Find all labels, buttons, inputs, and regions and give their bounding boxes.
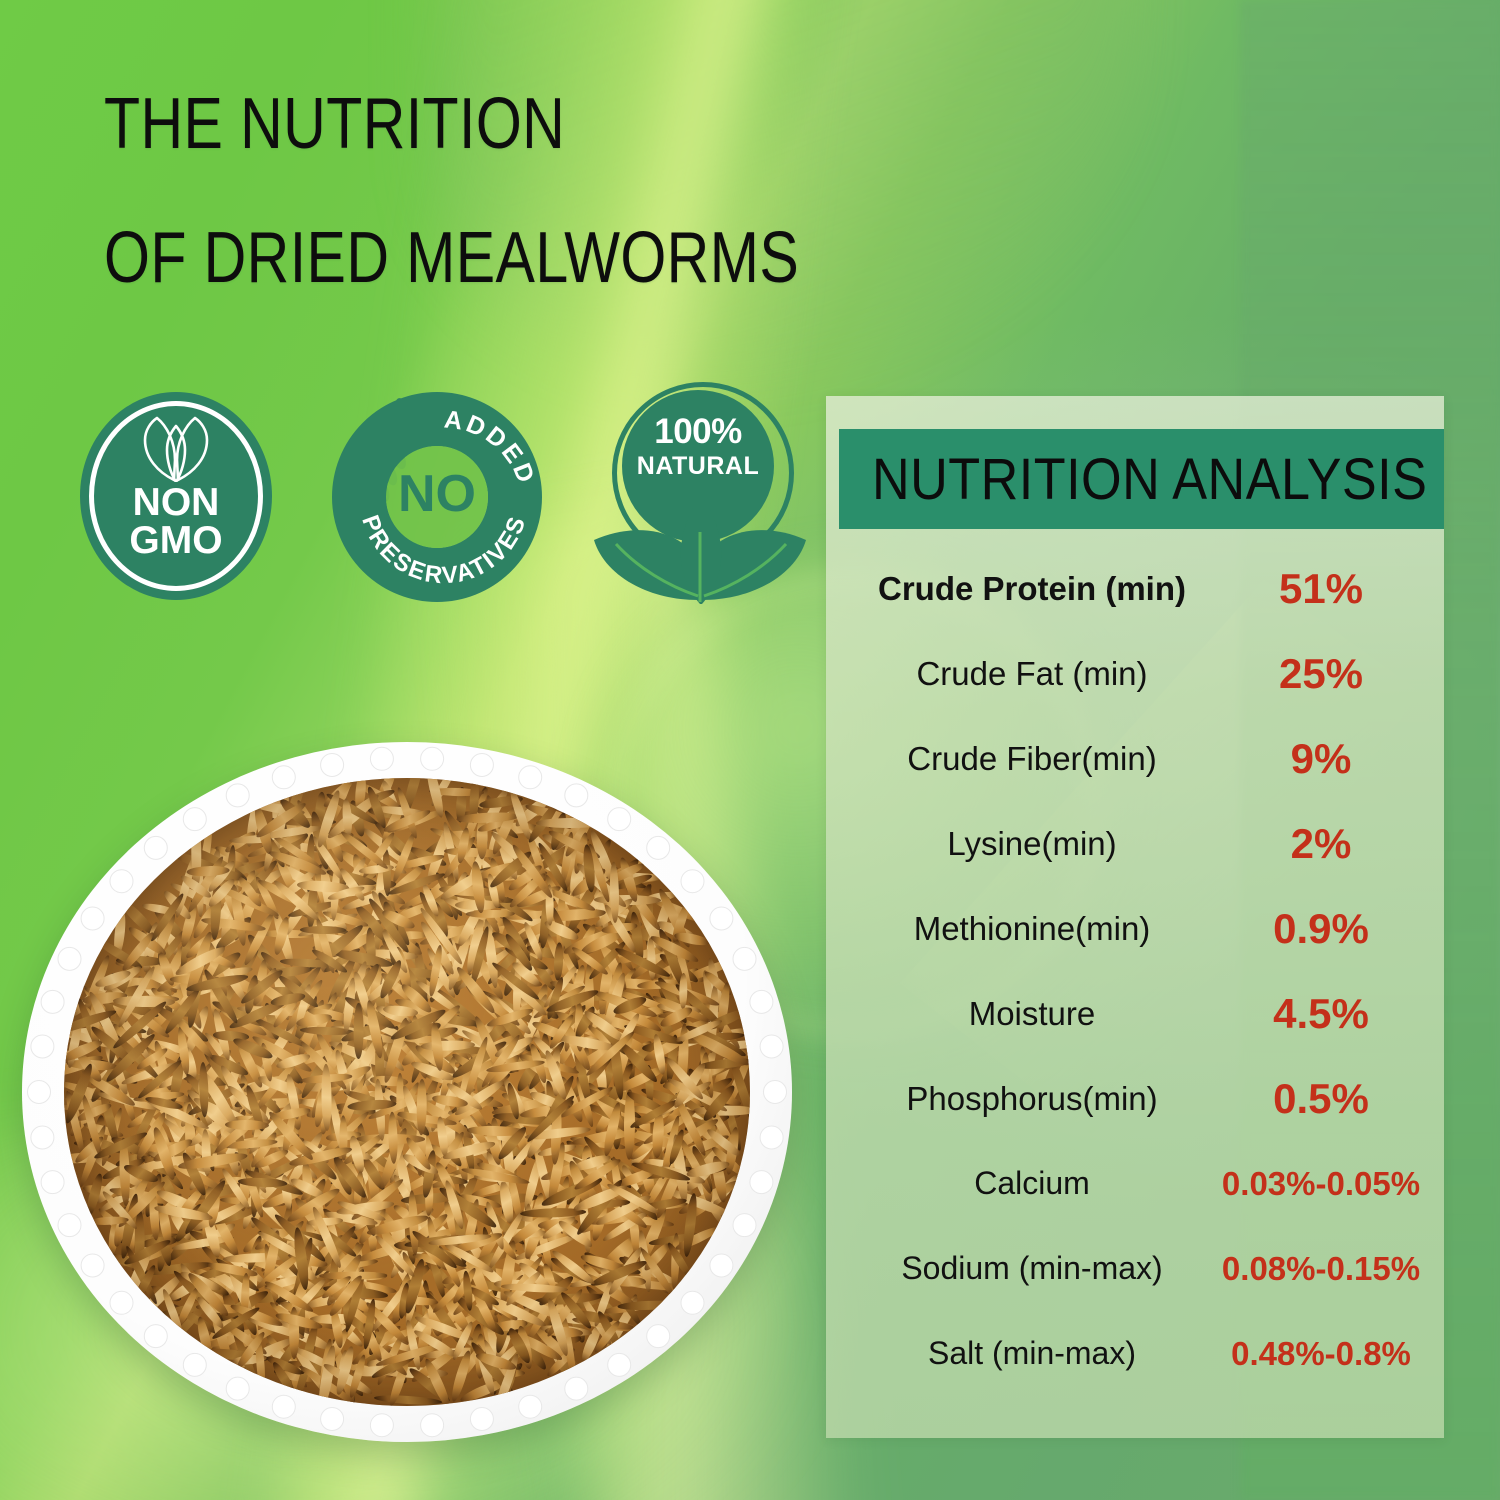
table-row: Sodium (min-max)0.08%-0.15% (826, 1226, 1444, 1311)
nutrient-value: 0.48%-0.8% (1212, 1335, 1430, 1373)
table-row: Calcium0.03%-0.05% (826, 1141, 1444, 1226)
table-row: Phosphorus(min)0.5% (826, 1056, 1444, 1141)
nutrition-table: Crude Protein (min)51%Crude Fat (min)25%… (826, 546, 1444, 1396)
badge-non-gmo-label: NON GMO (80, 484, 272, 560)
nutrient-label: Crude Protein (min) (852, 570, 1212, 608)
nutrition-analysis-panel: NUTRITION ANALYSIS Crude Protein (min)51… (826, 396, 1444, 1438)
nutrition-analysis-header: NUTRITION ANALYSIS (839, 429, 1444, 529)
table-row: Methionine(min)0.9% (826, 886, 1444, 971)
nutrient-label: Crude Fat (min) (852, 655, 1212, 693)
two-leaves-icon (133, 416, 219, 482)
nutrient-value: 0.08%-0.15% (1212, 1250, 1430, 1288)
nutrient-value: 4.5% (1212, 990, 1430, 1038)
page-title-line-1: THE NUTRITION (104, 88, 799, 160)
table-row: Lysine(min)2% (826, 801, 1444, 886)
nutrient-value: 51% (1212, 565, 1430, 613)
badge-natural-line-2: NATURAL (622, 454, 774, 479)
badge-no-added-preservatives: ADDED PRESERVATIVES NO (325, 387, 543, 605)
nutrition-analysis-title: NUTRITION ANALYSIS (872, 446, 1427, 513)
nutrient-label: Moisture (852, 995, 1212, 1033)
page-title-line-2: OF DRIED MEALWORMS (104, 222, 799, 294)
badge-non-gmo-line-2: GMO (80, 522, 272, 560)
nutrient-label: Phosphorus(min) (852, 1080, 1212, 1118)
nutrient-value: 9% (1212, 735, 1430, 783)
mealworm-pile (64, 778, 750, 1406)
nutrient-value: 0.03%-0.05% (1212, 1165, 1430, 1203)
nutrient-label: Lysine(min) (852, 825, 1212, 863)
table-row: Salt (min-max)0.48%-0.8% (826, 1311, 1444, 1396)
nutrient-label: Methionine(min) (852, 910, 1212, 948)
table-row: Moisture4.5% (826, 971, 1444, 1056)
badge-100-natural: 100% NATURAL (590, 386, 810, 606)
nutrient-value: 2% (1212, 820, 1430, 868)
table-row: Crude Fat (min)25% (826, 631, 1444, 716)
nutrient-value: 25% (1212, 650, 1430, 698)
badge-natural-line-1: 100% (622, 414, 774, 449)
page-title: THE NUTRITION OF DRIED MEALWORMS (104, 88, 952, 294)
badge-non-gmo: NON GMO (80, 392, 272, 600)
two-leaves-icon (590, 478, 810, 606)
table-row: Crude Protein (min)51% (826, 546, 1444, 631)
nutrient-value: 0.9% (1212, 905, 1430, 953)
trust-badge-group: NON GMO (80, 392, 800, 602)
infographic-canvas: THE NUTRITION OF DRIED MEALWORMS NON GMO (0, 0, 1500, 1500)
nutrient-label: Sodium (min-max) (852, 1250, 1212, 1287)
nutrient-label: Salt (min-max) (852, 1335, 1212, 1372)
nutrient-label: Calcium (852, 1165, 1212, 1202)
badge-no-center-label: NO (398, 465, 476, 523)
nutrient-label: Crude Fiber(min) (852, 740, 1212, 778)
product-photo-mealworm-bowl (22, 742, 792, 1442)
nutrient-value: 0.5% (1212, 1075, 1430, 1123)
table-row: Crude Fiber(min)9% (826, 716, 1444, 801)
badge-non-gmo-line-1: NON (80, 484, 272, 522)
badge-natural-label: 100% NATURAL (622, 414, 774, 479)
